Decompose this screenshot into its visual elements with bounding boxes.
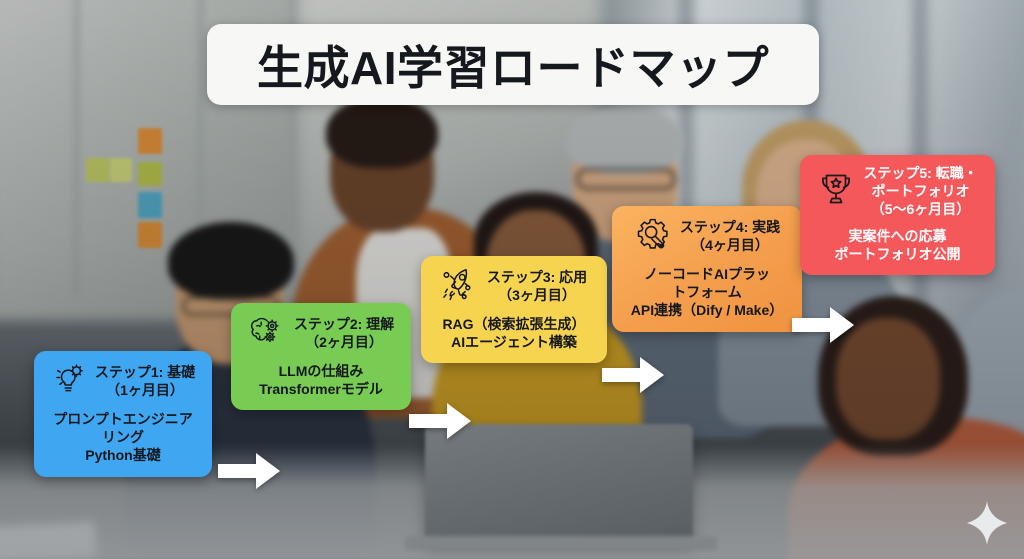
sparkle-icon	[966, 500, 1008, 546]
step-card-3[interactable]: ステップ3: 応用 （3ヶ月目） RAG（検索拡張生成） AIエージェント構築	[421, 256, 607, 363]
trophy-icon	[817, 170, 855, 213]
step-card-4[interactable]: ステップ4: 実践 （4ヶ月目） ノーコードAIプラッ トフォーム API連携（…	[612, 206, 802, 332]
arrow-right-icon	[790, 303, 856, 347]
step-card-2[interactable]: ステップ2: 理解 （2ヶ月目） LLMの仕組み Transformerモデル	[231, 303, 411, 410]
step-card-body: プロンプトエンジニア リング Python基礎	[53, 410, 193, 465]
arrow-right-icon	[216, 449, 282, 493]
infographic-canvas: 生成AI学習ロードマップ ステップ1: 基礎 （1ヶ月目） プロンプトエンジニア…	[0, 0, 1024, 559]
arrow-right-icon	[600, 353, 666, 397]
step-card-body: 実案件への応募 ポートフォリオ公開	[835, 227, 961, 263]
gear-wrench-icon	[634, 216, 672, 257]
lightbulb-gear-icon	[51, 361, 87, 402]
step-card-body: RAG（検索拡張生成） AIエージェント構築	[442, 315, 585, 351]
step-card-header: ステップ2: 理解 （2ヶ月目）	[243, 313, 399, 354]
arrow-right-icon	[407, 399, 473, 443]
step-card-body: ノーコードAIプラッ トフォーム API連携（Dify / Make）	[631, 265, 783, 320]
step-card-title: ステップ4: 実践 （4ヶ月目）	[680, 219, 780, 255]
page-title: 生成AI学習ロードマップ	[257, 32, 769, 98]
step-card-5[interactable]: ステップ5: 転職・ ポートフォリオ （5〜6ヶ月目） 実案件への応募 ポートフ…	[800, 155, 995, 275]
step-card-header: ステップ5: 転職・ ポートフォリオ （5〜6ヶ月目）	[812, 165, 983, 219]
brain-gears-icon	[248, 313, 286, 354]
step-card-title: ステップ2: 理解 （2ヶ月目）	[294, 316, 394, 352]
step-card-1[interactable]: ステップ1: 基礎 （1ヶ月目） プロンプトエンジニア リング Python基礎	[34, 351, 212, 477]
step-card-body: LLMの仕組み Transformerモデル	[259, 362, 383, 398]
rocket-icon	[441, 266, 479, 307]
title-banner: 生成AI学習ロードマップ	[207, 24, 819, 105]
step-card-title: ステップ5: 転職・ ポートフォリオ （5〜6ヶ月目）	[863, 165, 977, 219]
step-card-title: ステップ3: 応用 （3ヶ月目）	[487, 269, 587, 305]
step-card-header: ステップ1: 基礎 （1ヶ月目）	[46, 361, 200, 402]
step-card-header: ステップ4: 実践 （4ヶ月目）	[624, 216, 790, 257]
step-card-title: ステップ1: 基礎 （1ヶ月目）	[95, 364, 195, 400]
step-card-header: ステップ3: 応用 （3ヶ月目）	[433, 266, 595, 307]
